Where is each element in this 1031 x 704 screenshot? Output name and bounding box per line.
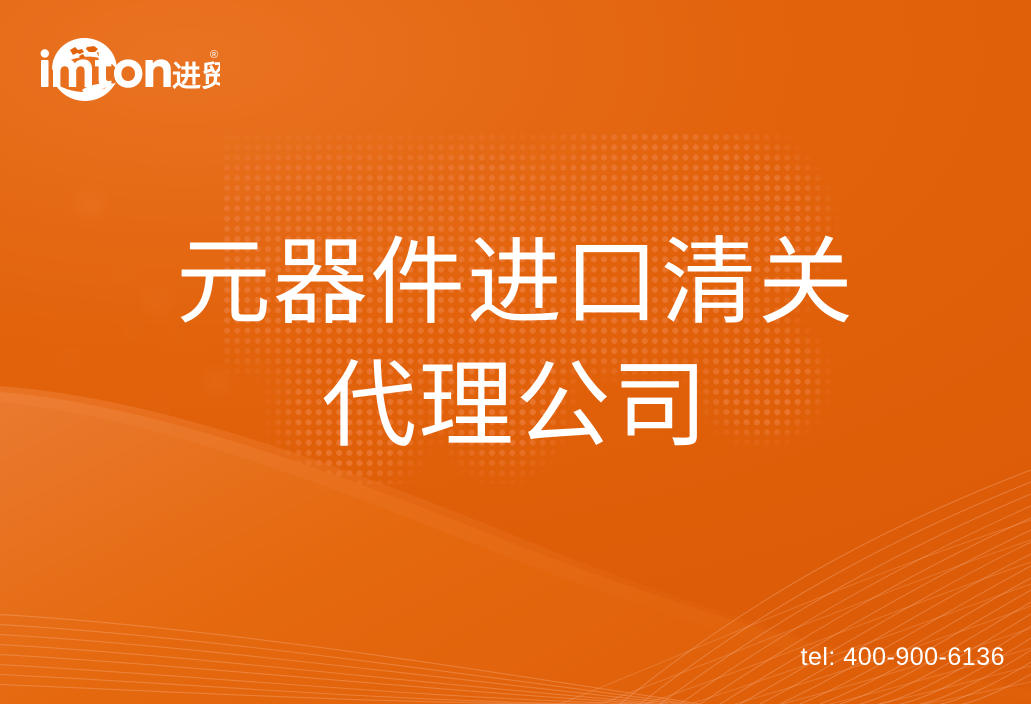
logo-svg: 进贸通 ® — [34, 26, 220, 102]
headline-line-1: 元器件进口清关 — [176, 230, 855, 336]
brand-logo[interactable]: 进贸通 ® — [34, 26, 220, 102]
headline: 元器件进口清关 代理公司 — [0, 222, 1031, 468]
headline-line-2: 代理公司 — [0, 345, 1031, 468]
contact-phone[interactable]: tel: 400-900-6136 — [801, 643, 1005, 672]
logo-chinese-name: 进贸通 — [172, 59, 220, 93]
poster-canvas: 进贸通 ® 元器件进口清关 代理公司 tel: 400-900-6136 — [0, 0, 1031, 704]
trademark-icon: ® — [210, 49, 218, 61]
